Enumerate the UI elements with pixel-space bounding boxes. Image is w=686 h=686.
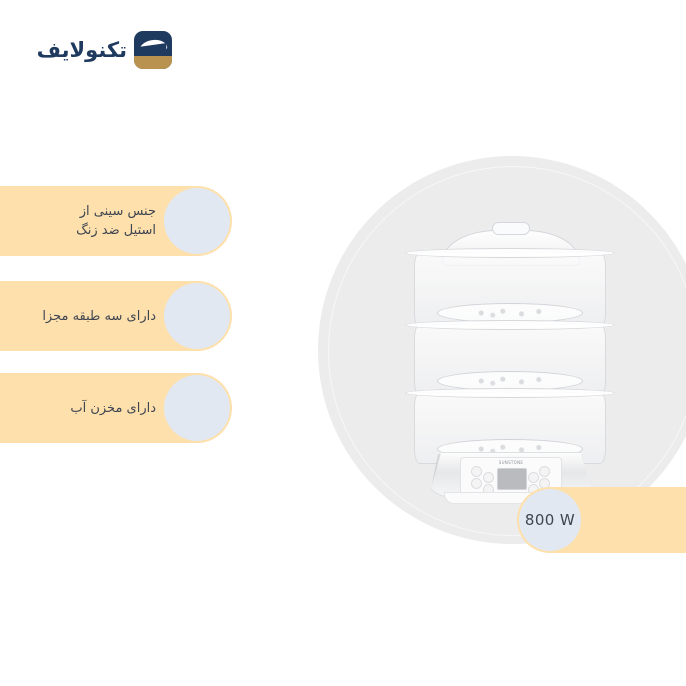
steamer-tier-1-rim (405, 248, 615, 258)
steamer-tier-3-rim (405, 388, 615, 398)
steamer-lid-knob-icon (492, 222, 530, 235)
panel-lcd-display (497, 468, 527, 490)
power-circle-icon: 800 W (519, 489, 581, 551)
spec-badge-wattage[interactable]: 800 W (517, 487, 686, 553)
feature-label-2: دارای سه طبقه مجزا (10, 307, 156, 326)
feature-circle-icon-1 (164, 188, 230, 254)
panel-button-2 (471, 478, 482, 489)
feature-circle-icon-3 (164, 375, 230, 441)
technolife-mark-icon (134, 31, 172, 69)
feature-label-3: دارای مخزن آب (10, 399, 156, 418)
brand-logo[interactable]: تکنولایف (22, 22, 172, 78)
panel-button-1 (471, 466, 482, 477)
logo-gold-band (134, 56, 172, 69)
steamer-tier-1 (414, 252, 606, 328)
feature-pill-2[interactable]: دارای سه طبقه مجزا (0, 281, 232, 351)
feature-label-1: جنس سینی از استیل ضد زنگ (10, 202, 156, 240)
steamer-tier-2 (414, 324, 606, 396)
product-feature-card: تکنولایف SUNSTONE (0, 0, 686, 686)
panel-button-5 (539, 466, 550, 477)
steamer-tier-2-rim (405, 320, 615, 330)
panel-brand-label: SUNSTONE (461, 460, 561, 465)
wattage-value: 800 W (525, 511, 575, 529)
panel-button-3 (483, 472, 494, 483)
feature-pill-3[interactable]: دارای مخزن آب (0, 373, 232, 443)
feature-pill-1[interactable]: جنس سینی از استیل ضد زنگ (0, 186, 232, 256)
panel-button-7 (528, 472, 539, 483)
feature-circle-icon-2 (164, 283, 230, 349)
product-image-food-steamer: SUNSTONE (404, 214, 616, 484)
brand-name: تکنولایف (37, 38, 127, 62)
